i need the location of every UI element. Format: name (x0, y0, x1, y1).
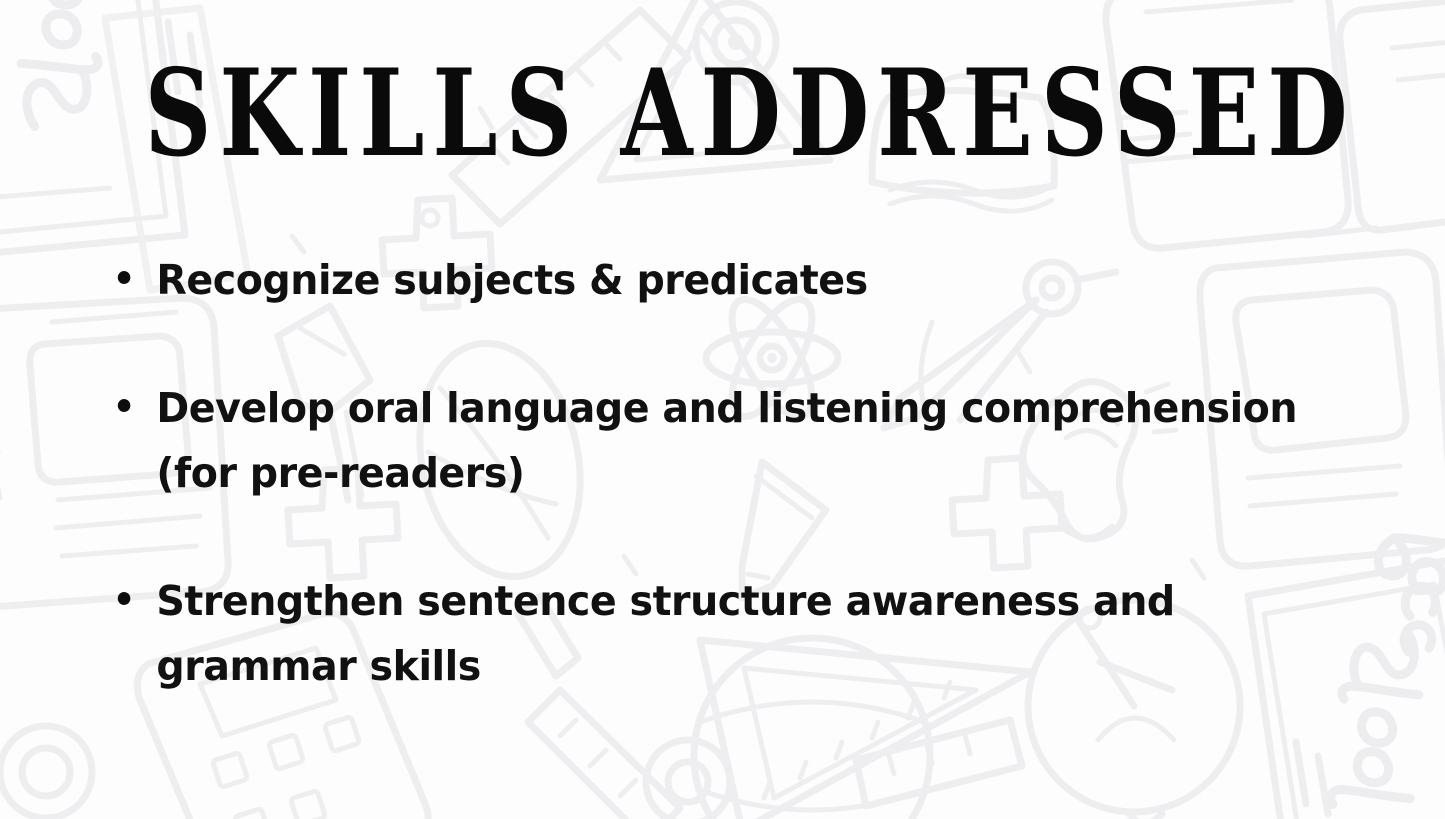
bullet-marker-icon (118, 399, 131, 412)
page-title: SKILLS ADDRESSED (145, 52, 1301, 177)
slide-canvas: SKILLS ADDRESSED Recognize subjects & pr… (0, 0, 1445, 819)
bullet-marker-icon (118, 592, 131, 605)
bullet-text: Recognize subjects & predicates (156, 248, 1299, 314)
slide-content: SKILLS ADDRESSED Recognize subjects & pr… (0, 0, 1445, 819)
skills-bullet-list: Recognize subjects & predicates Develop … (112, 248, 1342, 700)
bullet-marker-icon (118, 271, 131, 284)
list-item: Recognize subjects & predicates (112, 248, 1299, 314)
bullet-text: Strengthen sentence structure awareness … (156, 569, 1299, 700)
list-item: Strengthen sentence structure awareness … (112, 569, 1299, 700)
bullet-text: Develop oral language and listening comp… (156, 376, 1299, 507)
list-item: Develop oral language and listening comp… (112, 376, 1299, 507)
